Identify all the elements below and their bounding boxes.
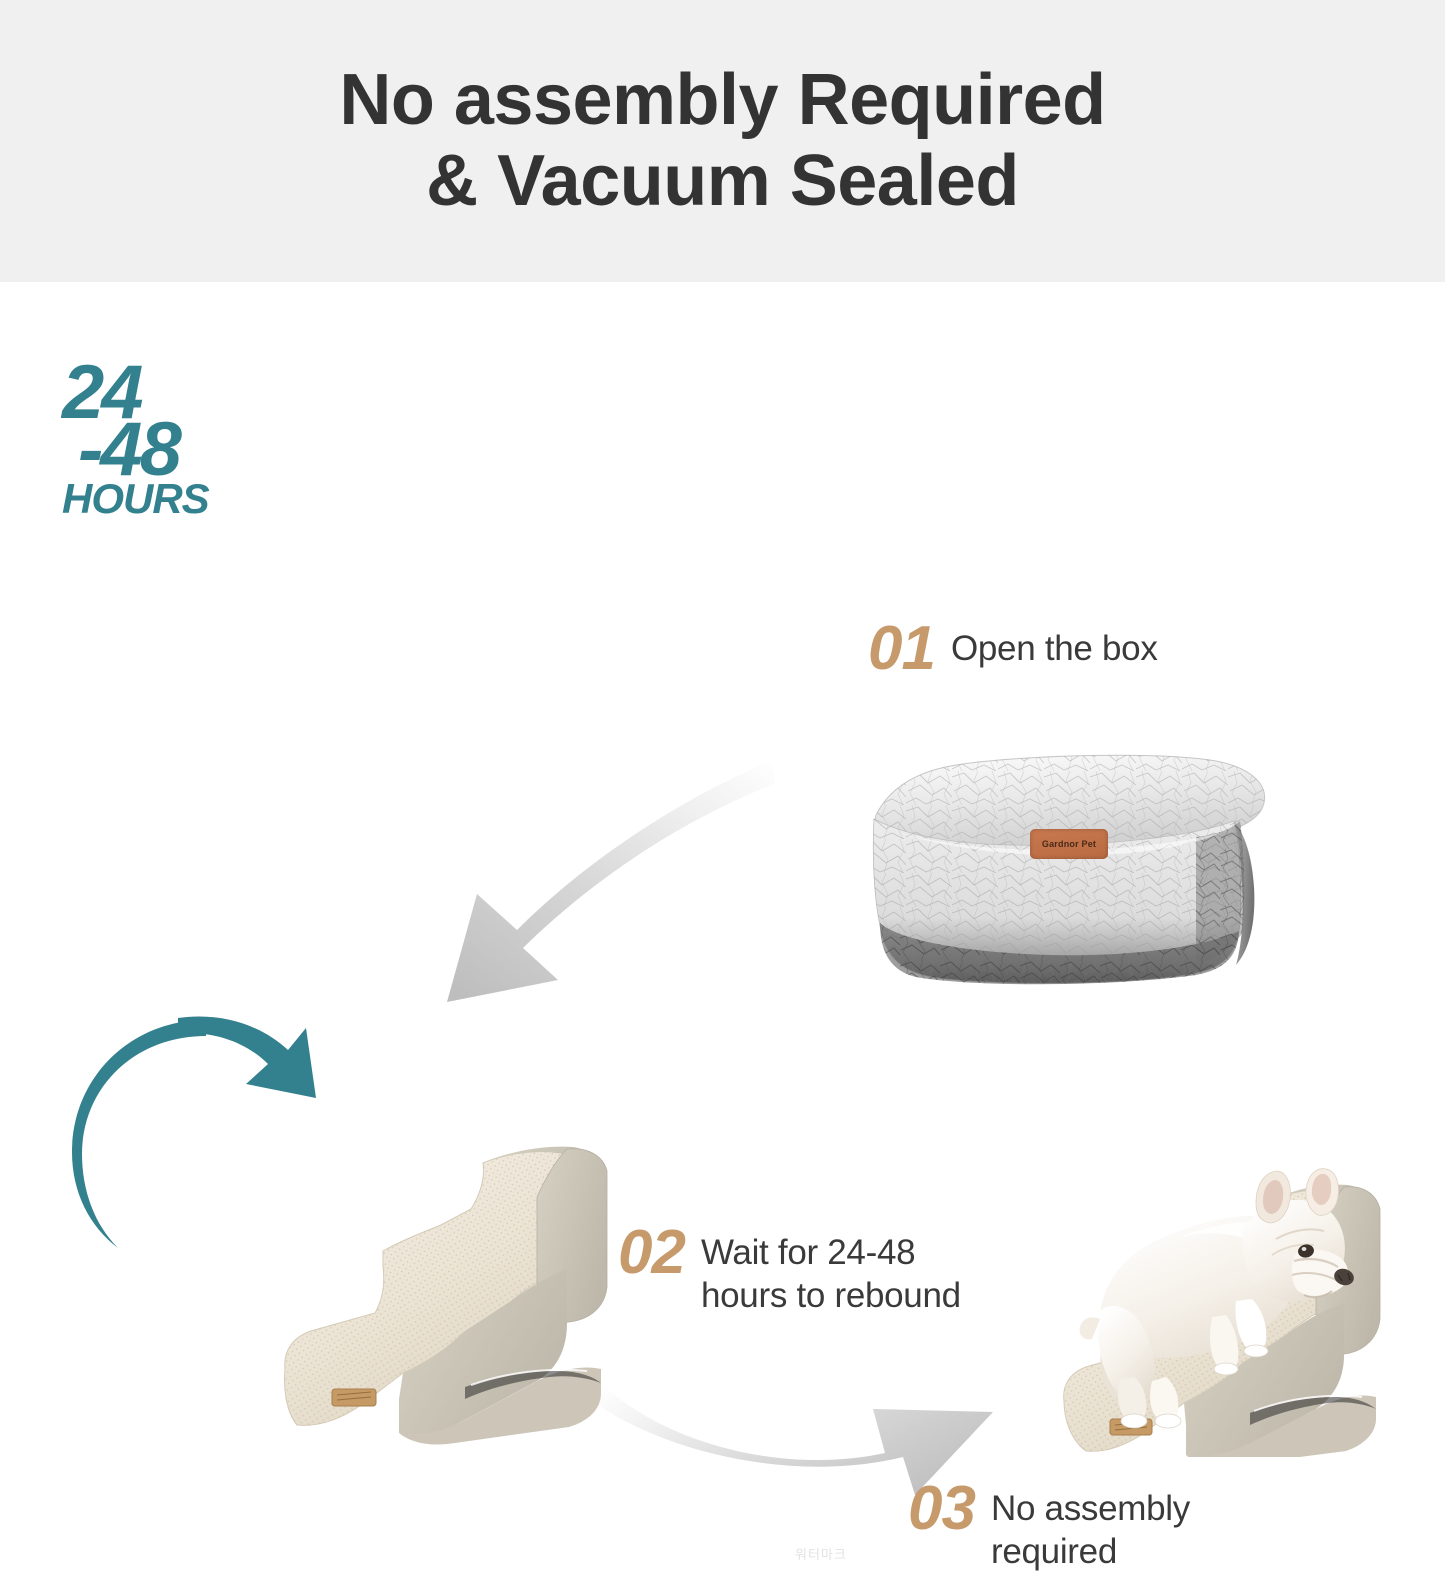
header-banner: No assembly Required & Vacuum Sealed <box>0 0 1445 282</box>
step-02-label: 02 Wait for 24-48 hours to rebound <box>618 1224 961 1317</box>
package-brand-tag: Gardnor Pet <box>1030 829 1108 859</box>
page-title-line-1: No assembly Required <box>339 60 1105 141</box>
step-03-number: 03 <box>908 1480 975 1539</box>
rebound-hours-unit: HOURS <box>62 481 272 517</box>
step-01-label: 01 Open the box <box>868 620 1158 679</box>
page-title-line-2: & Vacuum Sealed <box>339 141 1105 222</box>
step-02-number: 02 <box>618 1224 685 1283</box>
pet-stairs-icon <box>275 1137 625 1447</box>
product-brand-tag-icon <box>332 1389 376 1406</box>
rebound-time-text: 24 -48 HOURS <box>62 360 272 517</box>
vacuum-sealed-package-icon <box>860 737 1280 987</box>
package-brand-tag-text: Gardnor Pet <box>1042 839 1096 849</box>
rebound-hours-to: -48 <box>78 417 272 482</box>
arrow-step2-to-step3-icon <box>585 1317 1005 1502</box>
step-01-text: Open the box <box>951 620 1158 671</box>
dog-on-pet-stairs-icon <box>1060 1167 1405 1457</box>
step-01-number: 01 <box>868 620 935 679</box>
step-03-label: 03 No assembly required <box>908 1480 1190 1573</box>
infographic-stage: 01 Open the box <box>0 282 1445 1294</box>
step-03-text: No assembly required <box>991 1480 1190 1573</box>
page-title: No assembly Required & Vacuum Sealed <box>339 60 1105 221</box>
arrow-step1-to-step2-icon <box>395 752 775 1012</box>
watermark-text: 워터마크 <box>795 1544 847 1563</box>
step-02-text: Wait for 24-48 hours to rebound <box>701 1224 961 1317</box>
